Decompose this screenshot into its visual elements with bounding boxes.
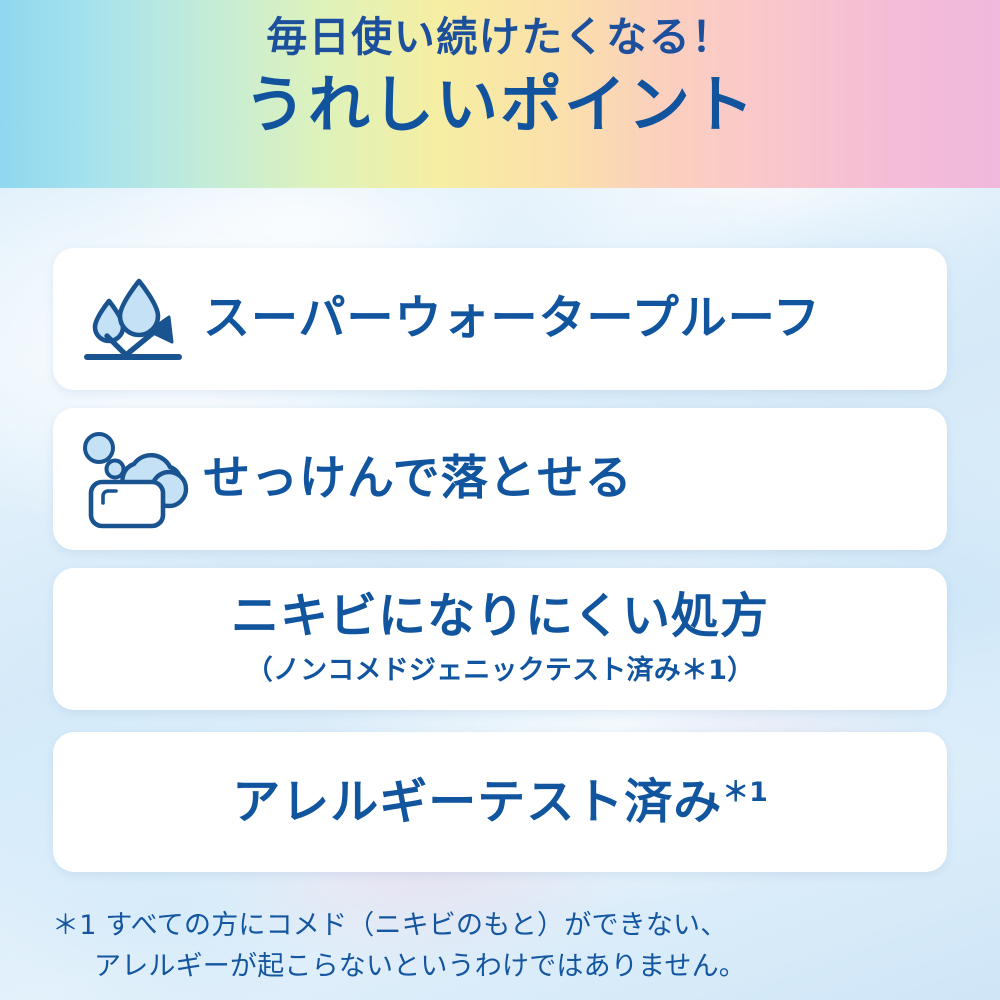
feature-card-soap-removable: せっけんで落とせる [53, 408, 947, 550]
soap-bar-lather-icon [53, 427, 203, 531]
footnote-block: ＊1 すべての方にコメド（ニキビのもと）ができない、 アレルギーが起こらないとい… [52, 905, 952, 987]
feature-label-waterproof: スーパーウォータープルーフ [203, 294, 821, 343]
feature-sublabel-non-comedogenic: （ノンコメドジェニックテスト済み＊1） [246, 648, 755, 687]
header-banner: 毎日使い続けたくなる！ うれしいポイント [0, 0, 1000, 188]
footnote-line-1: ＊1 すべての方にコメド（ニキビのもと）ができない、 [52, 905, 952, 946]
waterproof-droplets-icon [53, 273, 203, 365]
feature-label-allergy-tested-footnote-mark: ＊1 [722, 777, 768, 808]
footnote-line-2: アレルギーが起こらないというわけではありません。 [52, 946, 952, 987]
feature-label-soap-removable: せっけんで落とせる [203, 454, 633, 503]
infographic-page: 毎日使い続けたくなる！ うれしいポイント スーパーウォータープルーフ [0, 0, 1000, 1000]
feature-label-non-comedogenic: ニキビになりにくい処方 [231, 591, 769, 641]
feature-card-waterproof: スーパーウォータープルーフ [53, 248, 947, 390]
feature-label-allergy-tested-text: アレルギーテスト済み [232, 774, 722, 830]
header-title: うれしいポイント [244, 74, 756, 136]
header-subtitle: 毎日使い続けたくなる！ [266, 17, 734, 58]
feature-label-allergy-tested: アレルギーテスト済み＊1 [232, 777, 768, 827]
feature-card-non-comedogenic: ニキビになりにくい処方 （ノンコメドジェニックテスト済み＊1） [53, 568, 947, 710]
feature-card-allergy-tested: アレルギーテスト済み＊1 [53, 732, 947, 872]
